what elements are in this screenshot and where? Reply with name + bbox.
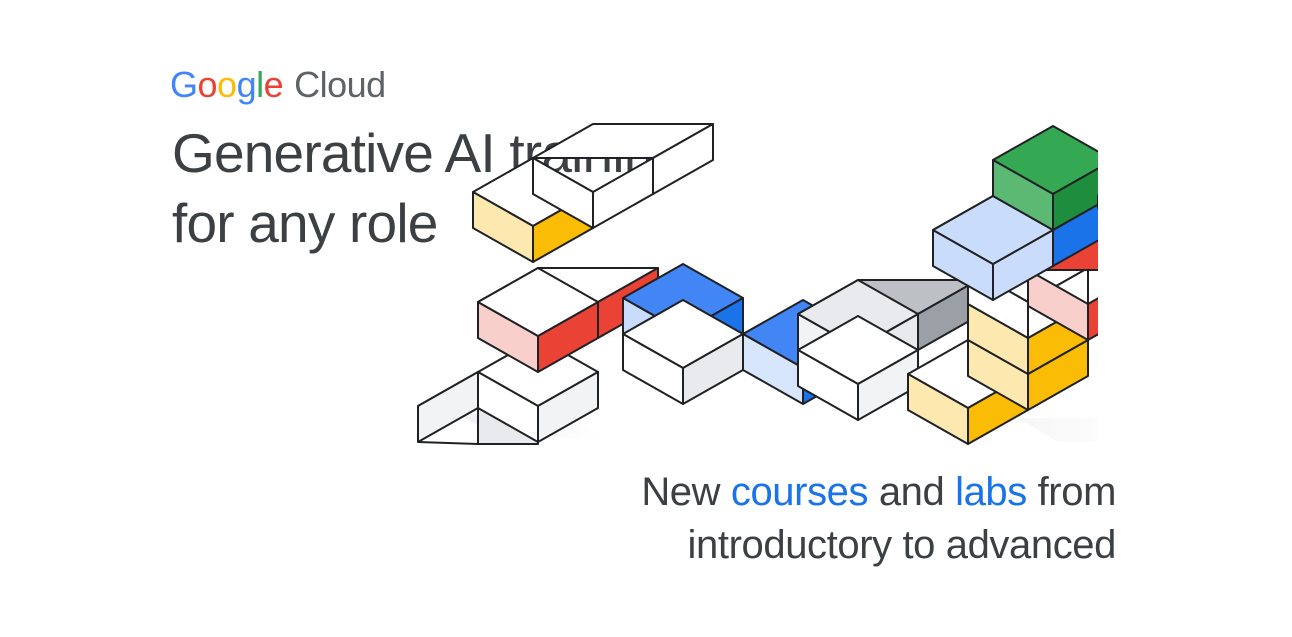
tagline-line-2: introductory to advanced	[641, 519, 1116, 572]
logo-letter-o-2: o	[217, 64, 237, 105]
logo-letter-g-1: G	[170, 64, 198, 105]
tagline: New courses and labs from introductory t…	[641, 466, 1116, 572]
logo-letter-l: l	[256, 64, 264, 105]
tagline-highlight-courses: courses	[731, 470, 868, 514]
tagline-text-and: and	[868, 470, 955, 514]
logo-letter-o-1: o	[198, 64, 218, 105]
cloud-wordmark: Cloud	[294, 64, 386, 106]
banner-canvas: Google Cloud Generative AI training for …	[0, 0, 1292, 637]
tagline-highlight-labs: labs	[955, 470, 1027, 514]
blocks-svg	[398, 118, 1098, 453]
google-wordmark: Google	[170, 64, 283, 106]
tagline-text-new: New	[641, 470, 731, 514]
logo-letter-e: e	[264, 64, 284, 105]
logo-letter-g-2: g	[237, 64, 257, 105]
tagline-line-1: New courses and labs from	[641, 466, 1116, 519]
tagline-text-from: from	[1027, 470, 1116, 514]
isometric-blocks-illustration	[398, 118, 1098, 453]
google-cloud-logo: Google Cloud	[170, 64, 386, 106]
